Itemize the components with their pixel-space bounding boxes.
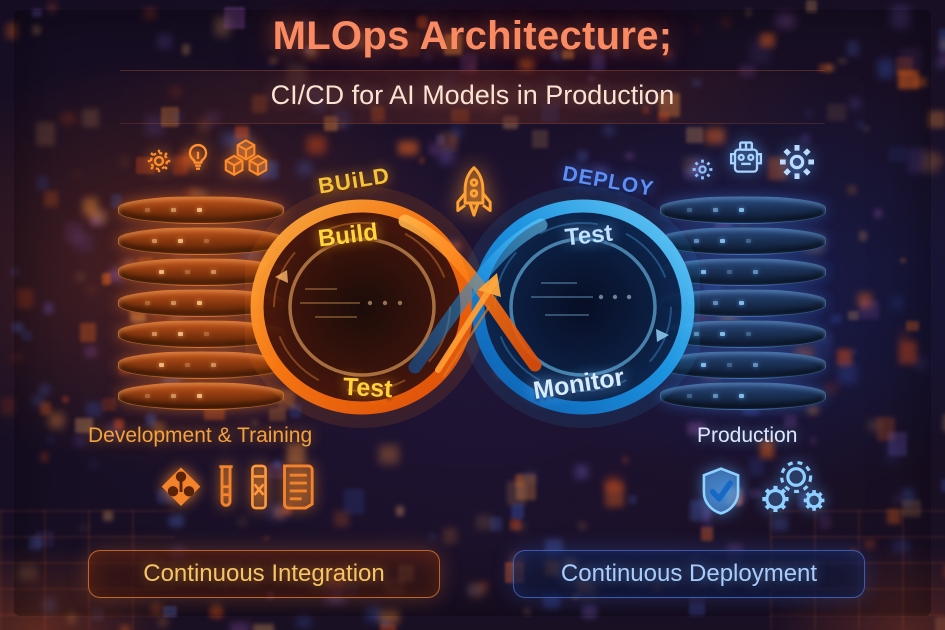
icon-cluster-ci-tools (158, 462, 318, 512)
status-led (746, 332, 751, 336)
status-led (211, 363, 216, 367)
status-led (171, 394, 176, 398)
zone-caption-production: Production (697, 424, 797, 448)
status-led (713, 208, 718, 212)
icon-cluster-production (690, 138, 817, 182)
icon-cluster-cd-tools (700, 460, 832, 516)
status-led (739, 208, 744, 212)
status-led (701, 270, 706, 274)
status-led (145, 394, 150, 398)
status-led (178, 239, 183, 243)
icon-cluster-development (144, 138, 270, 176)
status-led (701, 363, 706, 367)
cubes-icon (222, 138, 270, 176)
status-led (753, 270, 758, 274)
page-title: MLOps Architecture; (0, 14, 945, 59)
gear-icon (144, 146, 174, 176)
mlops-architecture-infographic: MLOps Architecture; CI/CD for AI Models … (0, 0, 945, 630)
status-led (197, 208, 202, 212)
page-subtitle: CI/CD for AI Models in Production (0, 80, 945, 111)
status-led (713, 301, 718, 305)
status-led (211, 270, 216, 274)
status-led (152, 332, 157, 336)
status-led (171, 301, 176, 305)
status-led (145, 301, 150, 305)
status-led (720, 239, 725, 243)
continuous-deployment-pill[interactable]: Continuous Deployment (513, 550, 865, 598)
shield-check-icon (700, 466, 742, 516)
status-led (739, 301, 744, 305)
status-led (152, 239, 157, 243)
status-led (171, 208, 176, 212)
status-led (197, 394, 202, 398)
status-led (185, 363, 190, 367)
git-branch-icon (158, 464, 204, 512)
status-led (739, 394, 744, 398)
status-led (727, 363, 732, 367)
status-led (727, 270, 732, 274)
status-led (720, 332, 725, 336)
status-led (159, 363, 164, 367)
status-led (145, 208, 150, 212)
gear-icon (690, 157, 715, 182)
status-led (178, 332, 183, 336)
zone-caption-development: Development & Training (88, 424, 312, 448)
header: MLOps Architecture; (0, 14, 945, 59)
continuous-integration-pill[interactable]: Continuous Integration (88, 550, 440, 598)
status-led (746, 239, 751, 243)
test-tube-icon (248, 462, 270, 512)
gear-icon (777, 142, 817, 182)
robot-head-icon (724, 138, 768, 182)
status-led (204, 239, 209, 243)
status-led (185, 270, 190, 274)
status-led (713, 394, 718, 398)
gears-icon (752, 460, 832, 516)
continuous-integration-label: Continuous Integration (143, 560, 385, 588)
lightbulb-icon (183, 142, 213, 176)
continuous-deployment-label: Continuous Deployment (561, 560, 817, 588)
status-led (204, 332, 209, 336)
status-led (753, 363, 758, 367)
status-led (159, 270, 164, 274)
rocket-icon (452, 165, 496, 232)
test-tube-icon (214, 464, 238, 512)
status-led (197, 301, 202, 305)
checklist-icon (280, 462, 318, 512)
